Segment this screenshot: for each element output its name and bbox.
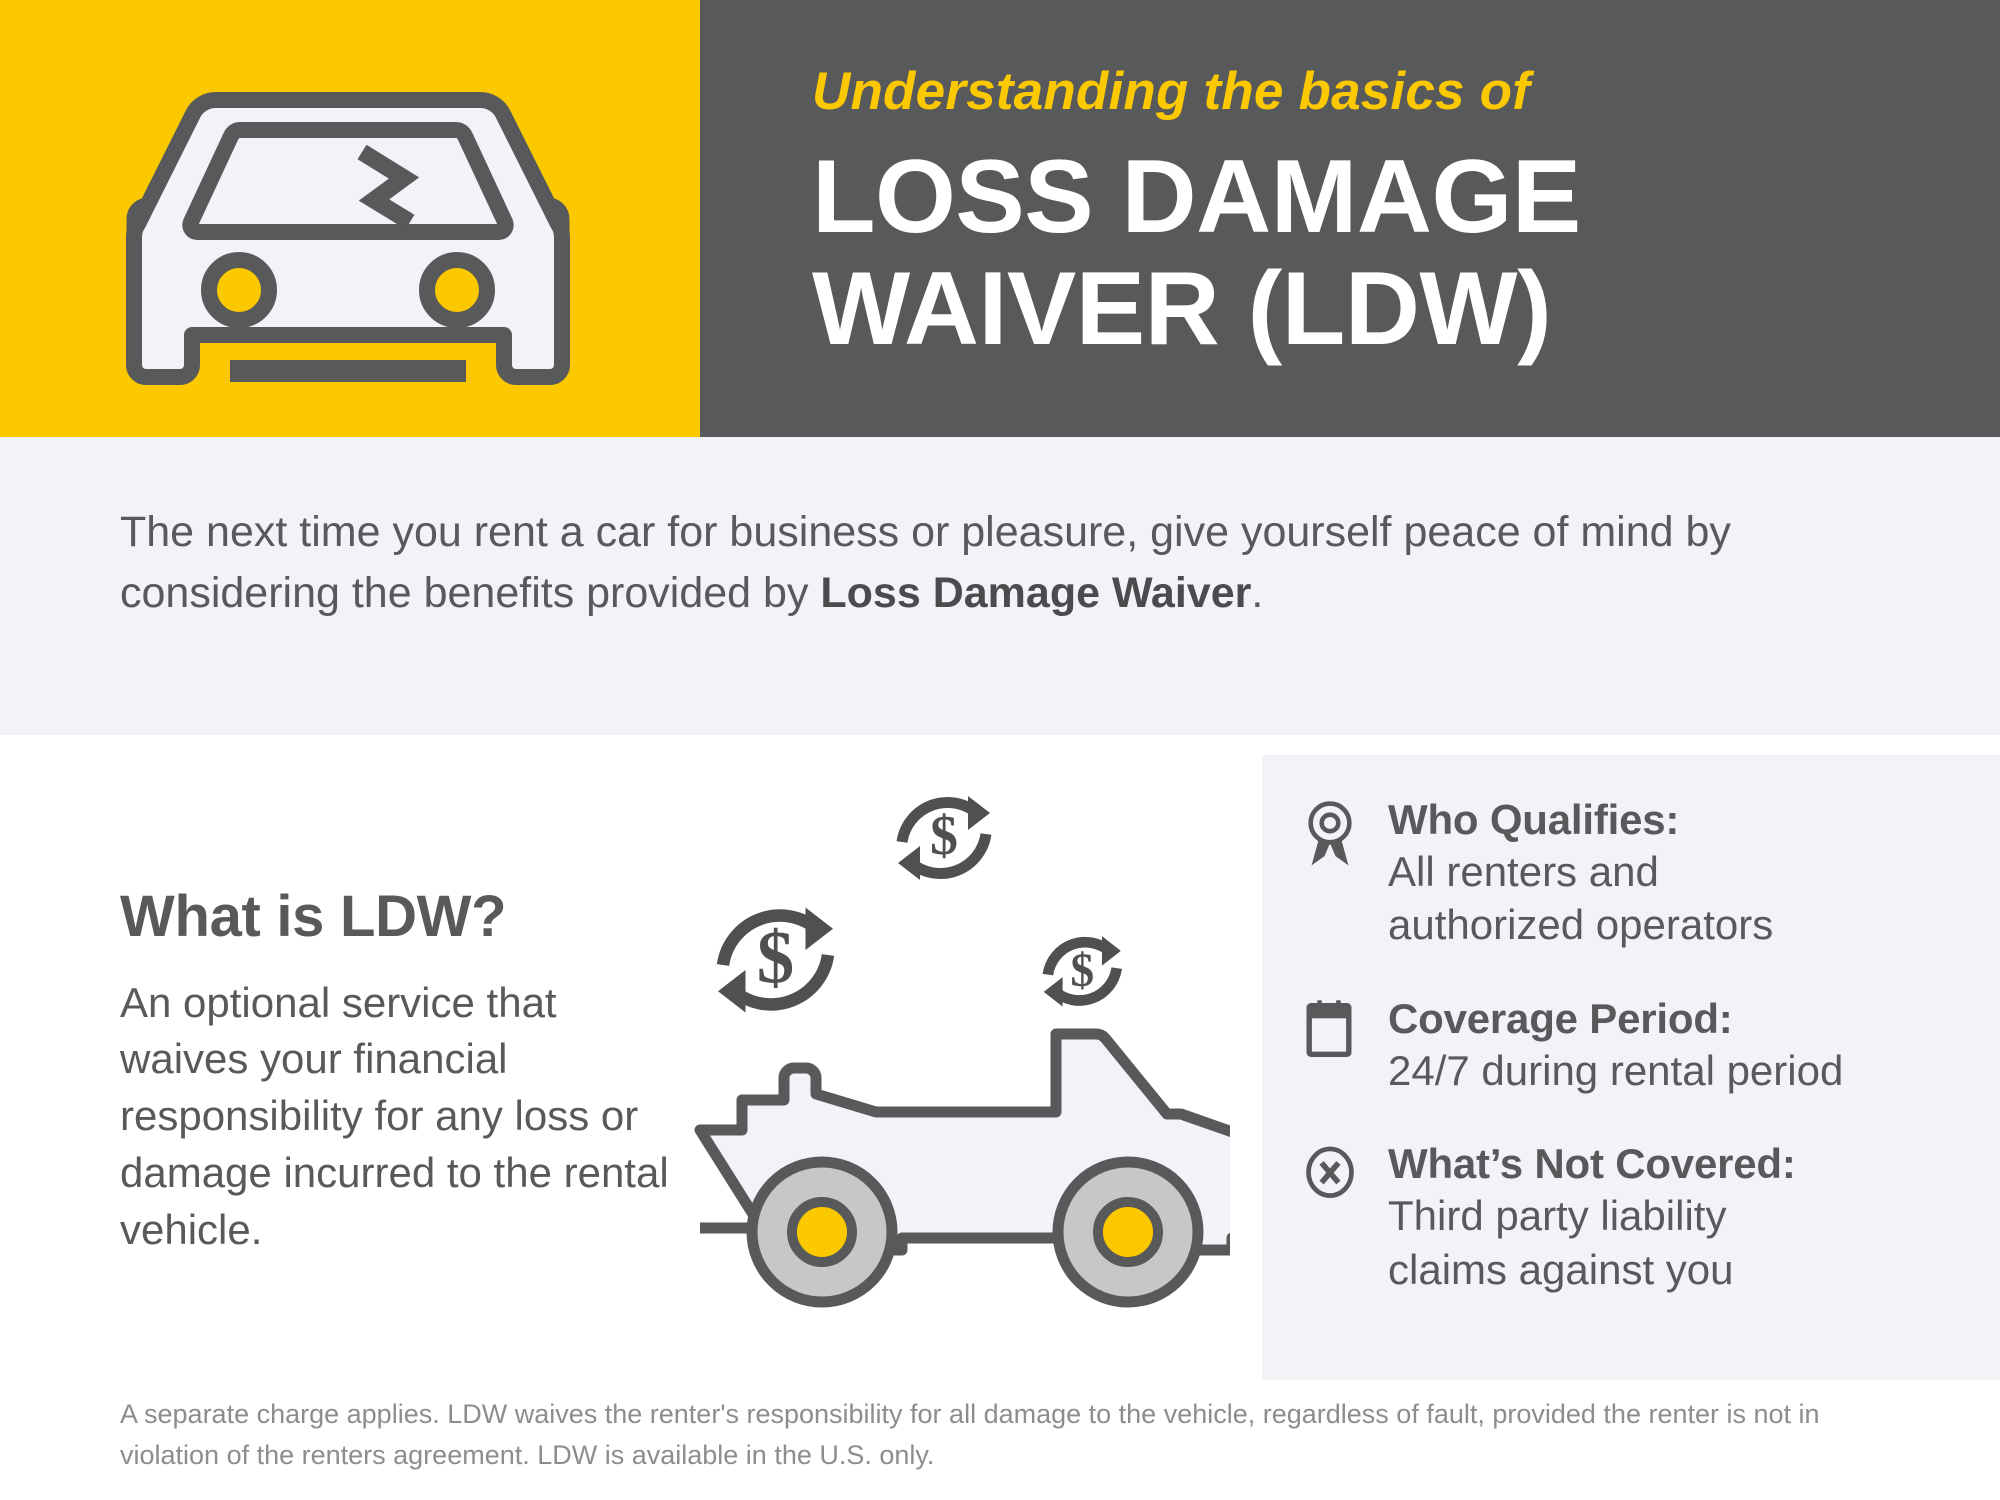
fact-coverage-period: Coverage Period: 24/7 during rental peri… — [1302, 994, 1970, 1097]
fact-text-group: Coverage Period: 24/7 during rental peri… — [1388, 994, 1970, 1097]
what-is-ldw-section: What is LDW? An optional service that wa… — [120, 885, 680, 1258]
money-refund-cycle-icon-left: $ — [718, 908, 833, 1013]
header-title-line1: LOSS DAMAGE — [812, 141, 1912, 253]
fact-value-line2: authorized operators — [1388, 898, 1970, 952]
fact-value-line1: All renters and — [1388, 845, 1970, 899]
fact-label: Who Qualifies: — [1388, 795, 1970, 845]
award-ribbon-icon — [1302, 795, 1388, 867]
calendar-icon — [1302, 994, 1388, 1066]
fact-who-qualifies: Who Qualifies: All renters and authorize… — [1302, 795, 1970, 952]
fact-label: Coverage Period: — [1388, 994, 1970, 1044]
main-content: What is LDW? An optional service that wa… — [0, 735, 2000, 1380]
svg-text:$: $ — [1070, 945, 1094, 997]
header-dark-panel: Understanding the basics of LOSS DAMAGE … — [700, 0, 2000, 437]
intro-paragraph: The next time you rent a car for busines… — [120, 502, 1920, 624]
section-heading: What is LDW? — [120, 885, 680, 949]
header-title-line2: WAIVER (LDW) — [812, 253, 1912, 365]
fact-value-line1: 24/7 during rental period — [1388, 1044, 1970, 1098]
fact-value-line1: Third party liability — [1388, 1189, 1970, 1243]
key-facts-panel: Who Qualifies: All renters and authorize… — [1262, 755, 2000, 1380]
fact-whats-not-covered: What’s Not Covered: Third party liabilit… — [1302, 1139, 1970, 1296]
money-refund-cycle-icon-right: $ — [1044, 936, 1121, 1007]
header-text-block: Understanding the basics of LOSS DAMAGE … — [812, 62, 1912, 366]
pickup-truck-side-icon — [700, 1034, 1230, 1302]
header-yellow-panel — [0, 0, 700, 437]
section-body: An optional service that waives your fin… — [120, 975, 680, 1258]
intro-text-bold: Loss Damage Waiver — [820, 569, 1251, 617]
infographic-page: Understanding the basics of LOSS DAMAGE … — [0, 0, 2000, 1500]
intro-text-2: . — [1251, 569, 1263, 617]
fact-text-group: What’s Not Covered: Third party liabilit… — [1388, 1139, 1970, 1296]
fact-text-group: Who Qualifies: All renters and authorize… — [1388, 795, 1970, 952]
intro-band: The next time you rent a car for busines… — [0, 437, 2000, 735]
footer-disclaimer-band: A separate charge applies. LDW waives th… — [0, 1380, 2000, 1500]
center-illustration: $ $ $ — [690, 760, 1230, 1360]
car-front-cracked-windshield-icon — [88, 60, 608, 390]
svg-text:$: $ — [757, 917, 795, 1000]
circle-x-icon — [1302, 1139, 1388, 1211]
svg-text:$: $ — [930, 805, 958, 867]
header-banner: Understanding the basics of LOSS DAMAGE … — [0, 0, 2000, 437]
fact-value-line2: claims against you — [1388, 1243, 1970, 1297]
fact-label: What’s Not Covered: — [1388, 1139, 1970, 1189]
footer-disclaimer: A separate charge applies. LDW waives th… — [120, 1394, 1920, 1475]
money-refund-cycle-icon-top: $ — [898, 796, 990, 880]
header-eyebrow: Understanding the basics of — [812, 62, 1912, 123]
